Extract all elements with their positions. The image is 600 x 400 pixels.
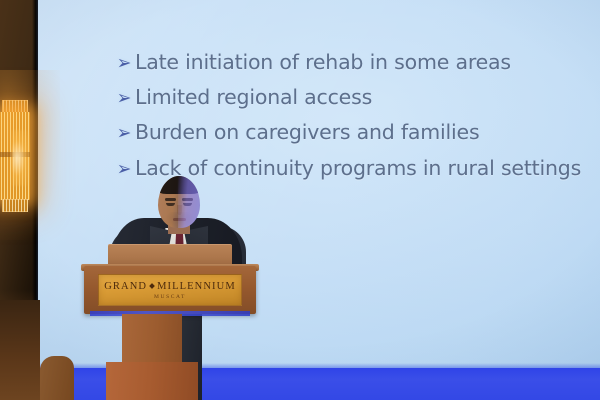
podium-lectern: GRAND MILLENNIUM MUSCAT: [84, 244, 256, 400]
slide-bullet-list: ➢ Late initiation of rehab in some areas…: [116, 50, 596, 190]
eyebrow-left: [165, 198, 176, 201]
bullet-text: Late initiation of rehab in some areas: [135, 50, 511, 74]
diamond-icon: [149, 283, 155, 289]
bullet-text: Limited regional access: [135, 85, 372, 109]
arrow-bullet-icon: ➢: [117, 89, 134, 108]
list-item: ➢ Burden on caregivers and families: [116, 120, 596, 144]
plaque-hotel-name-row: GRAND MILLENNIUM: [104, 281, 236, 292]
foreground-furniture: [40, 356, 74, 400]
speaker-head: [158, 176, 200, 228]
sconce-highlight: [12, 130, 30, 186]
plaque-hotel-name-second: MILLENNIUM: [157, 281, 236, 292]
list-item: ➢ Late initiation of rehab in some areas: [116, 50, 596, 74]
plaque-hotel-name-first: GRAND: [104, 281, 147, 292]
list-item: ➢ Limited regional access: [116, 85, 596, 109]
podium-base-shadow: [106, 362, 198, 400]
sconce-cap-bottom: [2, 199, 28, 212]
presentation-scene: ➢ Late initiation of rehab in some areas…: [0, 0, 600, 400]
plaque-city: MUSCAT: [154, 294, 186, 300]
podium-front-panel: GRAND MILLENNIUM MUSCAT: [84, 266, 256, 314]
arrow-bullet-icon: ➢: [117, 54, 134, 73]
foreground-wall-base: [0, 300, 40, 400]
arrow-bullet-icon: ➢: [117, 124, 134, 143]
bullet-text: Burden on caregivers and families: [135, 120, 479, 144]
eye-left: [166, 203, 175, 206]
wall-sconce-lamp: [0, 100, 30, 212]
venue-name-plaque: GRAND MILLENNIUM MUSCAT: [98, 274, 242, 306]
projector-light-wash: [178, 176, 200, 228]
